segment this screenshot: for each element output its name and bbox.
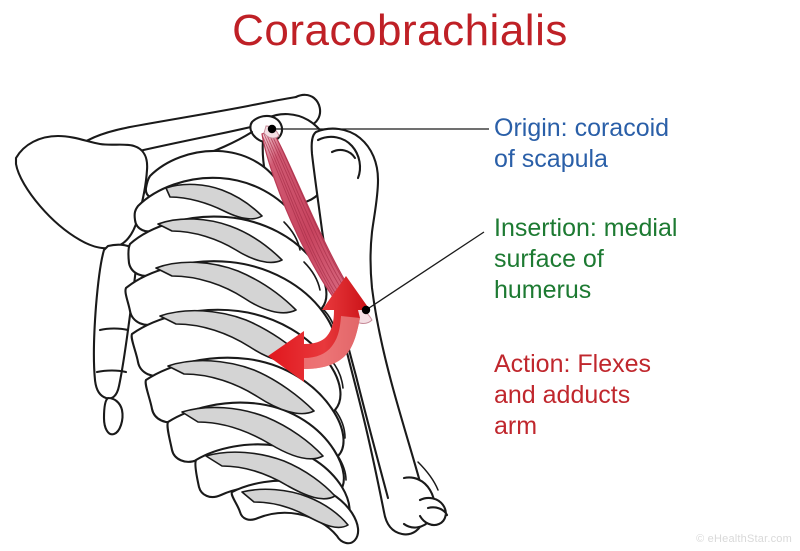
origin-annotation: Origin: coracoid of scapula [494,113,794,175]
diagram-page: Coracobrachialis [0,0,800,551]
insertion-annotation: Insertion: medial surface of humerus [494,213,799,306]
origin-marker-dot [268,125,276,133]
scapula-left-body [16,136,147,248]
insertion-leader-line [366,232,484,310]
watermark: © eHealthStar.com [696,533,792,545]
action-annotation: Action: Flexes and adducts arm [494,349,794,442]
insertion-marker-dot [362,306,370,314]
skeleton-group [16,95,447,543]
sternum [94,245,136,435]
